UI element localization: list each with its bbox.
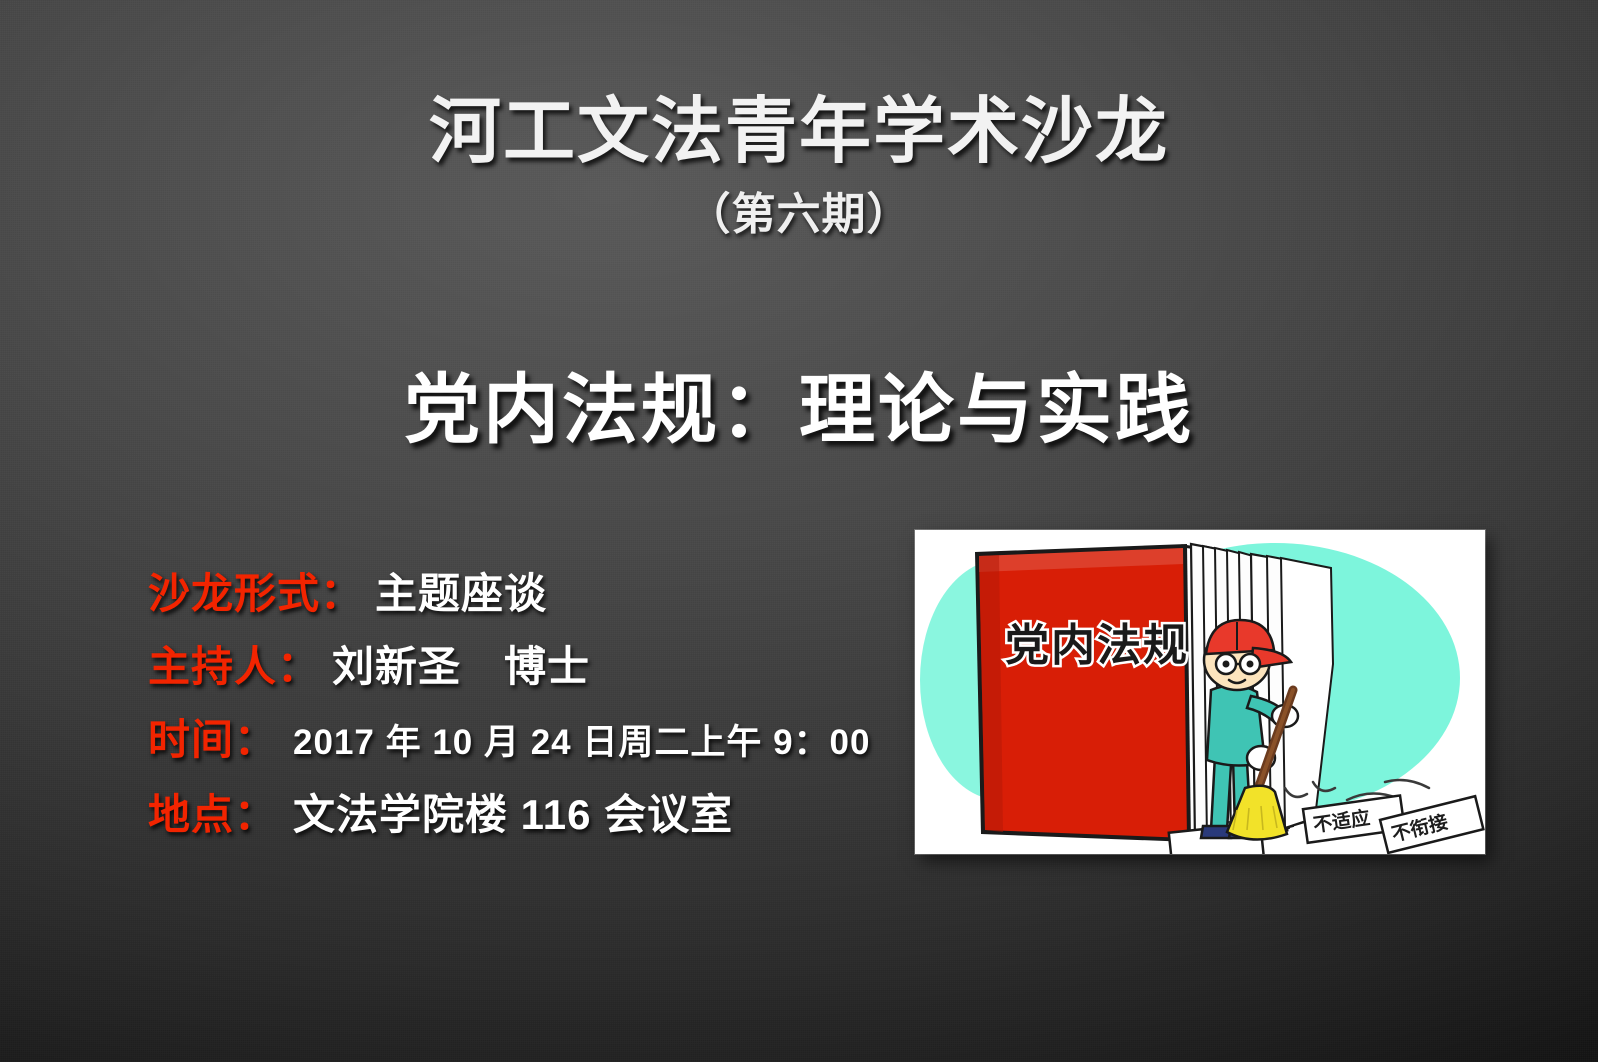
presentation-slide: 河工文法青年学术沙龙 （第六期） 党内法规：理论与实践 沙龙形式： 主题座谈 主… <box>0 0 1598 1062</box>
time-value: 2017 年 10 月 24 日周二上午 9：00 <box>293 714 870 765</box>
salon-format-value: 主题座谈 <box>375 560 547 621</box>
detail-row-venue: 地点： 文法学院楼 116 会议室 <box>148 781 908 842</box>
event-details: 沙龙形式： 主题座谈 主持人： 刘新圣 博士 时间： 2017 年 10 月 2… <box>148 560 908 854</box>
series-issue: （第六期） <box>0 178 1598 242</box>
red-book-cover-icon: 党内法规 <box>975 544 1191 842</box>
series-title: 河工文法青年学术沙龙 <box>0 96 1598 168</box>
book-cover-title: 党内法规 <box>1005 621 1189 670</box>
illustration-image: 党内法规 不适应 不衔接 <box>915 530 1485 854</box>
host-label: 主持人： <box>148 633 320 694</box>
detail-row-time: 时间： 2017 年 10 月 24 日周二上午 9：00 <box>148 706 908 767</box>
party-regulations-cartoon-icon: 党内法规 不适应 不衔接 <box>915 530 1485 854</box>
detail-row-salon-format: 沙龙形式： 主题座谈 <box>148 560 908 621</box>
venue-label: 地点： <box>148 781 277 842</box>
salon-format-label: 沙龙形式： <box>148 560 363 621</box>
page-title: 党内法规：理论与实践 <box>0 348 1598 458</box>
host-value: 刘新圣 博士 <box>332 633 590 694</box>
time-label: 时间： <box>148 706 277 767</box>
detail-row-host: 主持人： 刘新圣 博士 <box>148 633 908 694</box>
slide-header: 河工文法青年学术沙龙 （第六期） <box>0 96 1598 242</box>
venue-value: 文法学院楼 116 会议室 <box>293 781 733 842</box>
